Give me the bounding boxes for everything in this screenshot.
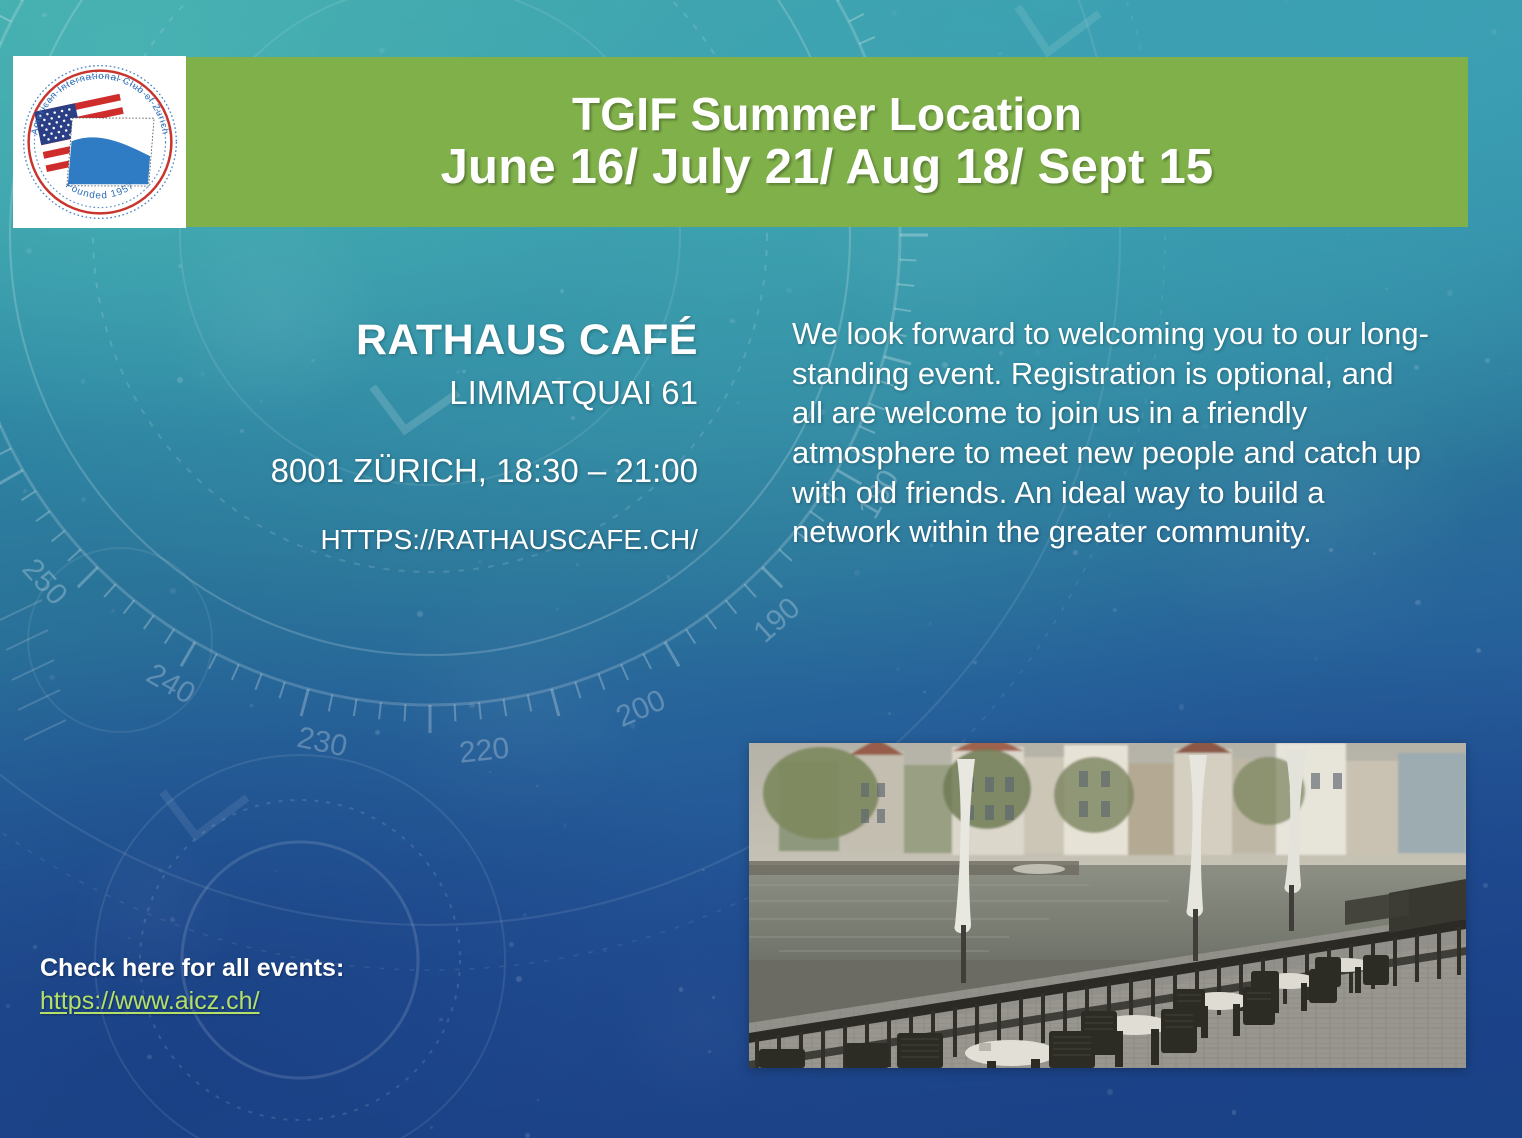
venue-street: LIMMATQUAI 61 bbox=[210, 368, 698, 418]
header-title-line-1: TGIF Summer Location bbox=[572, 90, 1082, 139]
venue-city-time: 8001 ZÜRICH, 18:30 – 21:00 bbox=[210, 446, 698, 496]
venue-details: RATHAUS CAFÉ LIMMATQUAI 61 8001 ZÜRICH, … bbox=[210, 316, 698, 561]
events-label: Check here for all events: bbox=[40, 952, 344, 985]
events-footer: Check here for all events: https://www.a… bbox=[40, 952, 344, 1016]
venue-name: RATHAUS CAFÉ bbox=[210, 316, 698, 365]
venue-photo bbox=[749, 743, 1466, 1068]
header-banner: TGIF Summer Location June 16/ July 21/ A… bbox=[186, 57, 1468, 227]
venue-photo-image bbox=[749, 743, 1466, 1068]
aicz-logo-icon: American International Club of Zurich Fo… bbox=[17, 59, 183, 225]
intro-paragraph: We look forward to welcoming you to our … bbox=[792, 314, 1432, 552]
events-website-link[interactable]: https://www.aicz.ch/ bbox=[40, 987, 260, 1016]
aicz-logo: American International Club of Zurich Fo… bbox=[13, 56, 186, 228]
venue-website-url[interactable]: HTTPS://RATHAUSCAFE.CH/ bbox=[210, 519, 698, 561]
header-title-line-2: June 16/ July 21/ Aug 18/ Sept 15 bbox=[441, 142, 1214, 194]
